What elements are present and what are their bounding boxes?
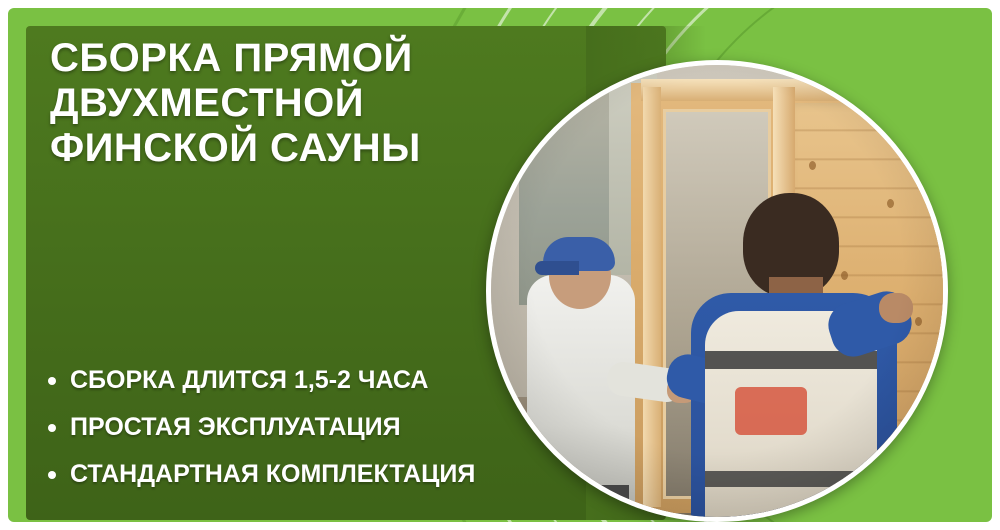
cabin-post-left (643, 87, 661, 507)
banner-outer-frame: СБОРКА ПРЯМОЙ ДВУХМЕСТНОЙ ФИНСКОЙ САУНЫ … (0, 0, 1000, 530)
worker-right-vest-stripe-lower (705, 471, 877, 487)
wood-knot (841, 271, 848, 280)
page-title: СБОРКА ПРЯМОЙ ДВУХМЕСТНОЙ ФИНСКОЙ САУНЫ (50, 36, 520, 170)
headline-line-3: ФИНСКОЙ САУНЫ (50, 126, 520, 171)
bullet-dot-icon (48, 377, 56, 385)
bullet-dot-icon (48, 424, 56, 432)
bullet-dot-icon (48, 471, 56, 479)
headline-line-1: СБОРКА ПРЯМОЙ (50, 36, 520, 81)
wood-knot (809, 161, 816, 170)
list-item-label: ПРОСТАЯ ЭКСПЛУАТАЦИЯ (70, 413, 401, 441)
wood-knot (915, 317, 922, 326)
worker-right-vest-logo (735, 387, 807, 435)
list-item-label: СТАНДАРТНАЯ КОМПЛЕКТАЦИЯ (70, 460, 475, 488)
promo-banner: СБОРКА ПРЯМОЙ ДВУХМЕСТНОЙ ФИНСКОЙ САУНЫ … (0, 0, 1000, 530)
photo-content (491, 65, 943, 517)
wood-knot (887, 199, 894, 208)
worker-left-legs (535, 485, 629, 522)
banner-green-frame: СБОРКА ПРЯМОЙ ДВУХМЕСТНОЙ ФИНСКОЙ САУНЫ … (8, 8, 992, 522)
worker-right-hand (879, 293, 913, 323)
headline-line-2: ДВУХМЕСТНОЙ (50, 81, 520, 126)
worker-left-cap-brim (535, 261, 579, 275)
sauna-assembly-photo (486, 60, 948, 522)
list-item-label: СБОРКА ДЛИТСЯ 1,5-2 ЧАСА (70, 366, 428, 394)
